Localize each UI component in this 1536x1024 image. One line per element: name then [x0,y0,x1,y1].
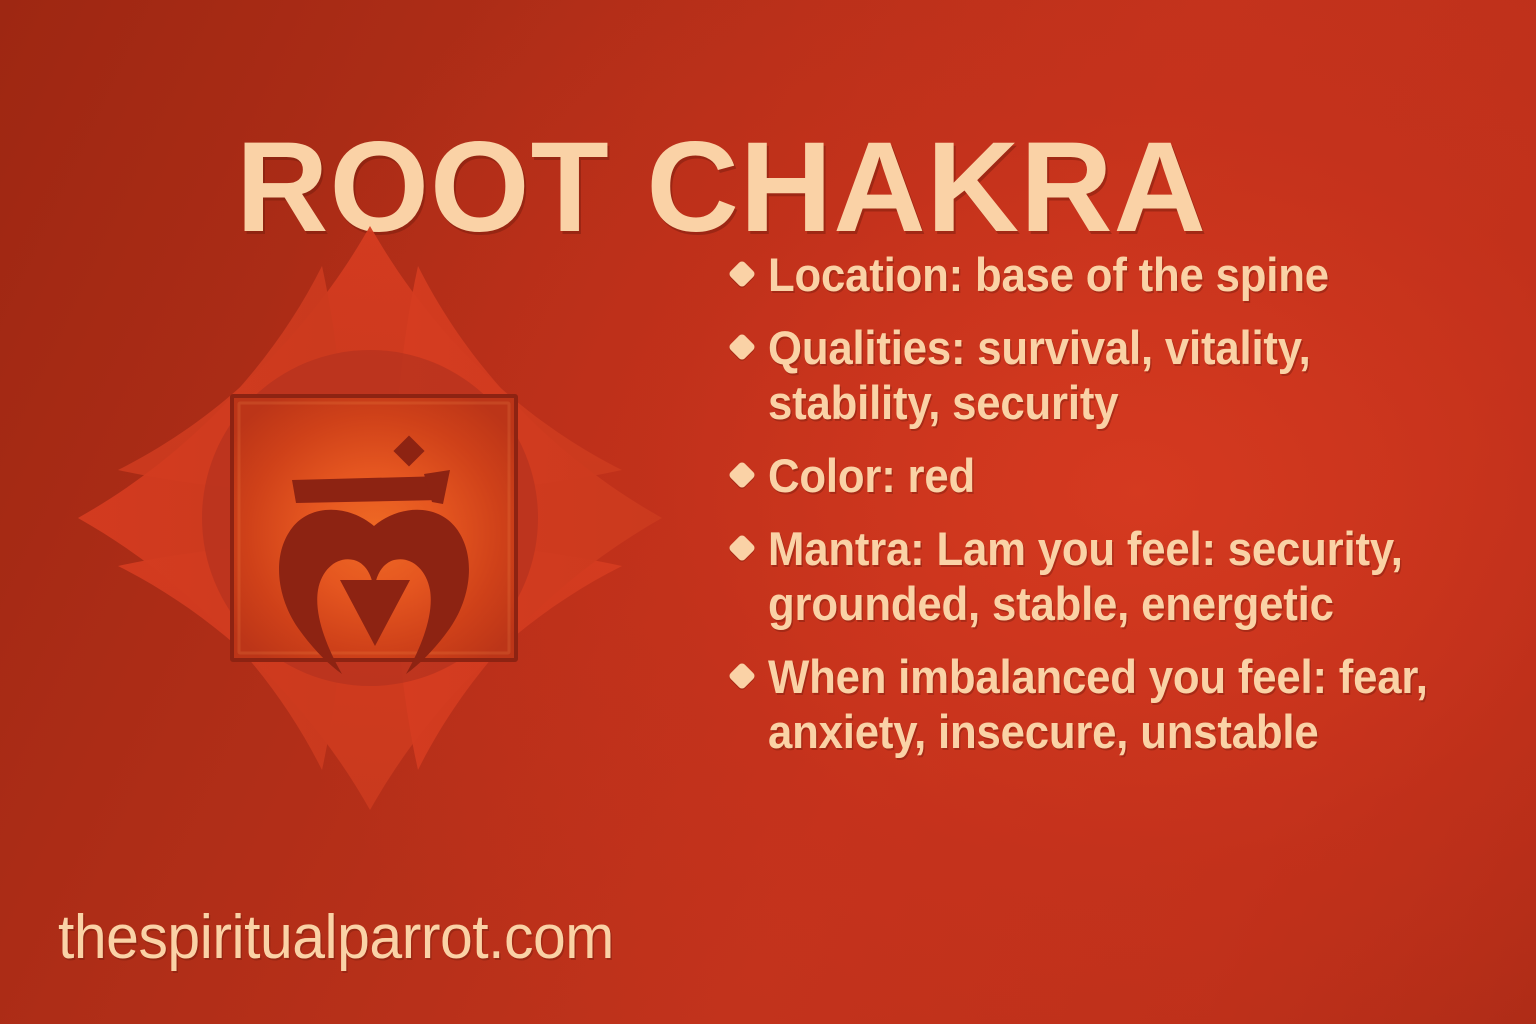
diamond-bullet-icon [728,461,756,489]
chakra-attribute-list: Location: base of the spine Qualities: s… [732,248,1536,778]
list-item-label: Location: base of the spine [768,248,1482,303]
infographic-canvas: ROOT CHAKRA [0,0,1536,1024]
list-item-label: Qualities: survival, vitality, stability… [768,321,1482,431]
list-item: When imbalanced you feel: fear, anxiety,… [732,650,1536,760]
list-item-label: When imbalanced you feel: fear, anxiety,… [768,650,1482,760]
diamond-bullet-icon [728,662,756,690]
list-item: Color: red [732,449,1536,504]
diamond-bullet-icon [728,534,756,562]
list-item: Mantra: Lam you feel: security, grounded… [732,522,1536,632]
diamond-bullet-icon [728,333,756,361]
list-item: Qualities: survival, vitality, stability… [732,321,1536,431]
list-item-label: Color: red [768,449,1482,504]
diamond-bullet-icon [728,260,756,288]
list-item: Location: base of the spine [732,248,1536,303]
website-url: thespiritualparrot.com [58,902,614,973]
shirorekha-bar [292,476,446,503]
muladhara-root-chakra-symbol [60,208,680,828]
list-item-label: Mantra: Lam you feel: security, grounded… [768,522,1482,632]
